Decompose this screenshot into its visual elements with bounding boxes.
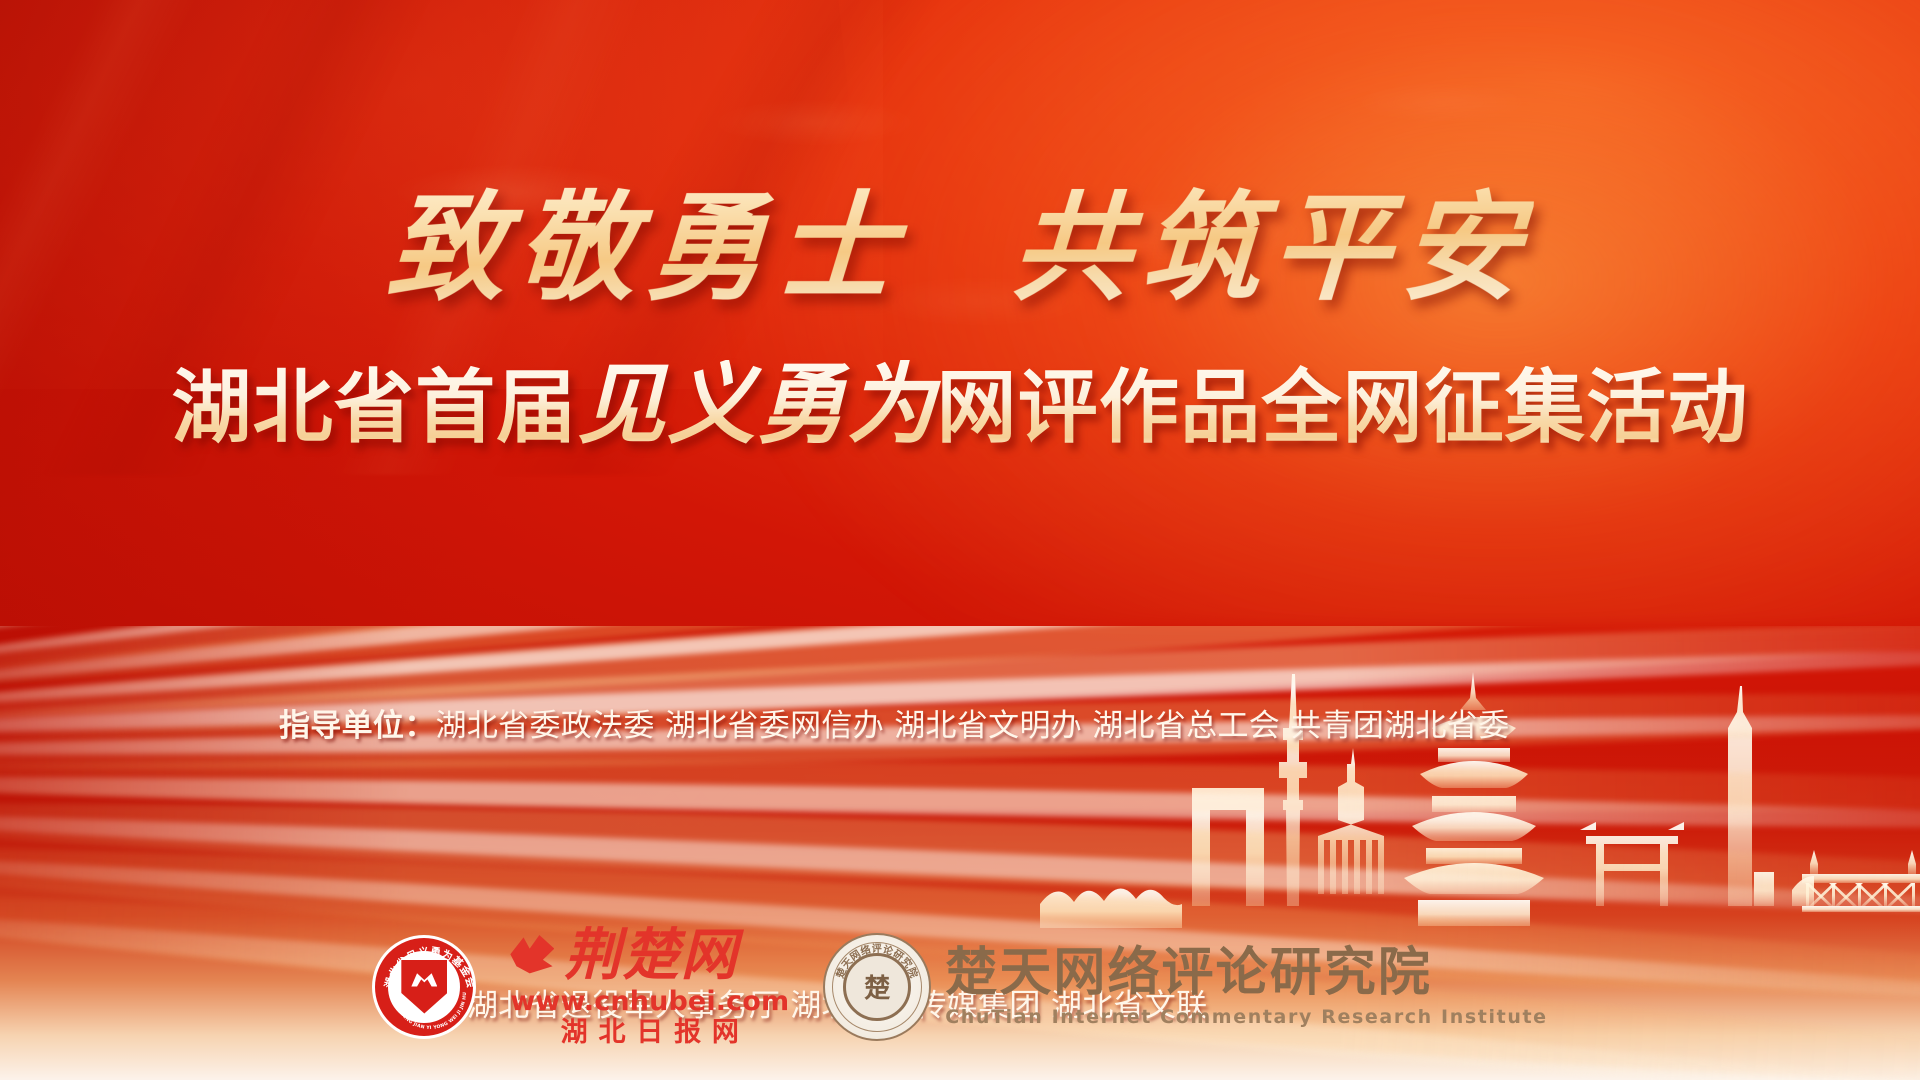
cnhubei-logo: 荆楚网 www.cnhubei.com 湖北日报网 (510, 927, 789, 1046)
cnhubei-wordmark: 荆楚网 (510, 927, 789, 983)
chutian-name-en: ChuTian Internet Commentary Research Ins… (945, 1006, 1547, 1028)
foundation-logo: 湖北省见义勇为基金会 HU BEI SHENG JIAN YI YONG WEI… (372, 935, 476, 1039)
chutian-wordmark: 楚天网络评论研究院 ChuTian Internet Commentary Re… (945, 945, 1547, 1028)
chutian-seal-icon: 楚天网络评论研究院 楚 (823, 933, 931, 1041)
subtitle: 湖北省首届见义勇为网评作品全网征集活动 (171, 360, 1748, 448)
cnhubei-subtitle: 湖北日报网 (510, 1019, 789, 1046)
logo-bar: 湖北省见义勇为基金会 HU BEI SHENG JIAN YI YONG WEI… (0, 927, 1920, 1046)
subtitle-lead: 湖北省首届 (171, 361, 577, 454)
subtitle-accent: 见义勇为 (577, 352, 936, 456)
foundation-seal-icon: 湖北省见义勇为基金会 HU BEI SHENG JIAN YI YONG WEI… (372, 935, 476, 1039)
chutian-logo: 楚天网络评论研究院 楚 楚天网络评论研究院 ChuTian Internet C… (823, 933, 1547, 1041)
cnhubei-url: www.cnhubei.com (510, 988, 789, 1015)
svg-text:楚天网络评论研究院: 楚天网络评论研究院 (833, 942, 921, 981)
organization-label: 指导单位： (279, 708, 436, 744)
cnhubei-brand: 荆楚网 (564, 927, 739, 983)
organization-value: 湖北省委政法委 湖北省委网信办 湖北省文明办 湖北省总工会 共青团湖北省委 (436, 708, 1510, 744)
main-title: 致敬勇士 共筑平安 (383, 152, 1536, 323)
subtitle-block: 湖北省首届见义勇为网评作品全网征集活动 (0, 360, 1920, 448)
organization-row: 指导单位：湖北省委政法委 湖北省委网信办 湖北省文明办 湖北省总工会 共青团湖北… (218, 642, 1738, 810)
flame-mark-icon (510, 935, 554, 975)
poster-canvas: 致敬勇士 共筑平安 湖北省首届见义勇为网评作品全网征集活动 指导单位：湖北省委政… (0, 0, 1920, 1080)
subtitle-tail: 网评作品全网征集活动 (937, 361, 1749, 454)
chutian-name-cn: 楚天网络评论研究院 (945, 945, 1547, 1000)
main-title-block: 致敬勇士 共筑平安 (0, 152, 1920, 323)
chutian-seal-ring-text: 楚天网络评论研究院 (825, 935, 929, 1039)
